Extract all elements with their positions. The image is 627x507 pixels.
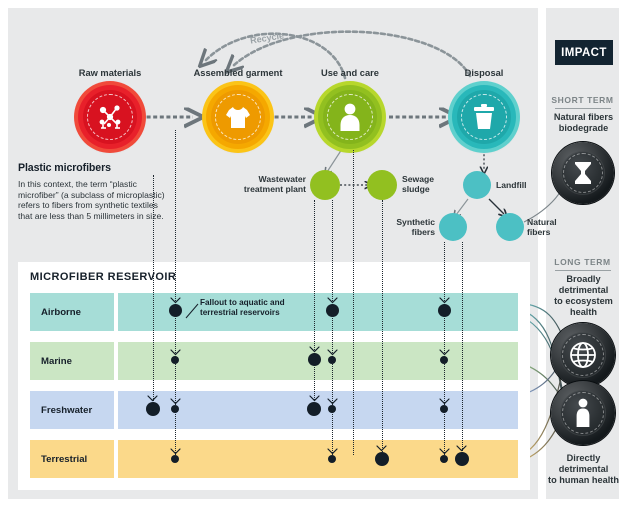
reservoir-row-label-terrestrial: Terrestrial [30, 440, 114, 478]
long-term-heading: LONG TERM [546, 257, 619, 269]
long-term-line3: to ecosystem [554, 296, 613, 306]
sludge-line1: Sewage [402, 174, 434, 184]
human-line3: to human health [548, 475, 619, 485]
label-natural-fibers: Natural fibers [527, 217, 573, 237]
impact-medallion-globe[interactable] [551, 323, 615, 387]
long-term-line1: Broadly [566, 274, 600, 284]
person-icon [335, 101, 365, 133]
hourglass-icon [571, 160, 595, 186]
stage-node-raw-materials[interactable] [78, 85, 142, 149]
deposit-dot [328, 405, 336, 413]
stage-label-use-and-care: Use and care [300, 68, 400, 78]
long-term-line2: detrimental [559, 285, 609, 295]
node-synthetic-fibers[interactable] [439, 213, 467, 241]
deposit-dot [440, 356, 448, 364]
impact-badge: IMPACT [555, 40, 613, 65]
flow-line-col-382 [382, 200, 383, 458]
human-line2: detrimental [559, 464, 609, 474]
reservoir-row-label-freshwater: Freshwater [30, 391, 114, 429]
globe-icon [568, 340, 598, 370]
short-term-rule [555, 108, 611, 109]
node-sewage-sludge[interactable] [367, 170, 397, 200]
impact-medallion-human[interactable] [551, 381, 615, 445]
human-line1: Directly [567, 453, 601, 463]
label-sewage-sludge: Sewage sludge [402, 174, 456, 194]
short-term-line2: biodegrade [559, 123, 609, 133]
stage-node-disposal[interactable] [452, 85, 516, 149]
node-natural-fibers[interactable] [496, 213, 524, 241]
deposit-dot [171, 405, 179, 413]
deposit-dot [146, 402, 160, 416]
deposit-dot [438, 304, 451, 317]
deposit-dot [440, 455, 448, 463]
stage-label-raw-materials: Raw materials [60, 68, 160, 78]
long-term-rule [555, 270, 611, 271]
synth-line1: Synthetic [396, 217, 435, 227]
synth-line2: fibers [412, 227, 435, 237]
reservoir-row-label-marine: Marine [30, 342, 114, 380]
long-term-text: Broadly detrimental to ecosystem health [544, 274, 623, 318]
callout-title: Plastic microfibers [18, 162, 111, 174]
long-term-line4: health [570, 307, 597, 317]
node-wastewater-treatment-plant[interactable] [310, 170, 340, 200]
deposit-dot [308, 353, 321, 366]
reservoir-title: MICROFIBER RESERVOIR [30, 271, 176, 283]
label-synthetic-fibers: Synthetic fibers [385, 217, 435, 237]
ww-line1: Wastewater [259, 174, 306, 184]
deposit-dot [307, 402, 321, 416]
callout-plastic-microfibers: Plastic microfibers In this context, the… [18, 158, 170, 221]
flow-line-col-153 [153, 175, 154, 405]
deposit-dot [375, 452, 389, 466]
flow-line-col-314 [314, 200, 315, 400]
stage-node-use-and-care[interactable] [318, 85, 382, 149]
trash-icon [470, 102, 498, 132]
label-wastewater-treatment-plant: Wastewater treatment plant [240, 174, 306, 194]
callout-body: In this context, the term “plastic micro… [18, 179, 170, 221]
deposit-dot [171, 356, 179, 364]
human-health-text: Directly detrimental to human health [544, 453, 623, 486]
flow-line-col-332 [332, 200, 333, 455]
tshirt-icon [222, 101, 254, 133]
deposit-dot [328, 455, 336, 463]
molecule-icon [93, 100, 127, 134]
stage-label-assembled-garment: Assembled garment [180, 68, 296, 78]
short-term-line1: Natural fibers [554, 112, 613, 122]
deposit-dot [328, 356, 336, 364]
deposit-dot [169, 304, 182, 317]
deposit-dot [171, 455, 179, 463]
ww-line2: treatment plant [244, 184, 306, 194]
flow-line-col-353 [353, 150, 354, 455]
short-term-heading: SHORT TERM [546, 95, 619, 107]
deposit-dot [455, 452, 469, 466]
label-landfill: Landfill [496, 180, 538, 190]
infographic-root: Raw materials Assembled garment Use and … [0, 0, 627, 507]
person-silhouette-icon [572, 397, 594, 429]
deposit-dot [440, 405, 448, 413]
impact-medallion-hourglass[interactable] [552, 142, 614, 204]
flow-line-col-462 [462, 242, 463, 457]
sludge-line2: sludge [402, 184, 430, 194]
node-landfill[interactable] [463, 171, 491, 199]
nat-line1: Natural [527, 217, 557, 227]
deposit-dot [326, 304, 339, 317]
fallout-annotation: Fallout to aquatic and terrestrial reser… [200, 298, 310, 317]
flow-line-col-444 [444, 242, 445, 457]
stage-label-disposal: Disposal [444, 68, 524, 78]
reservoir-row-label-airborne: Airborne [30, 293, 114, 331]
stage-node-assembled-garment[interactable] [206, 85, 270, 149]
nat-line2: fibers [527, 227, 550, 237]
short-term-text: Natural fibers biodegrade [544, 112, 623, 134]
